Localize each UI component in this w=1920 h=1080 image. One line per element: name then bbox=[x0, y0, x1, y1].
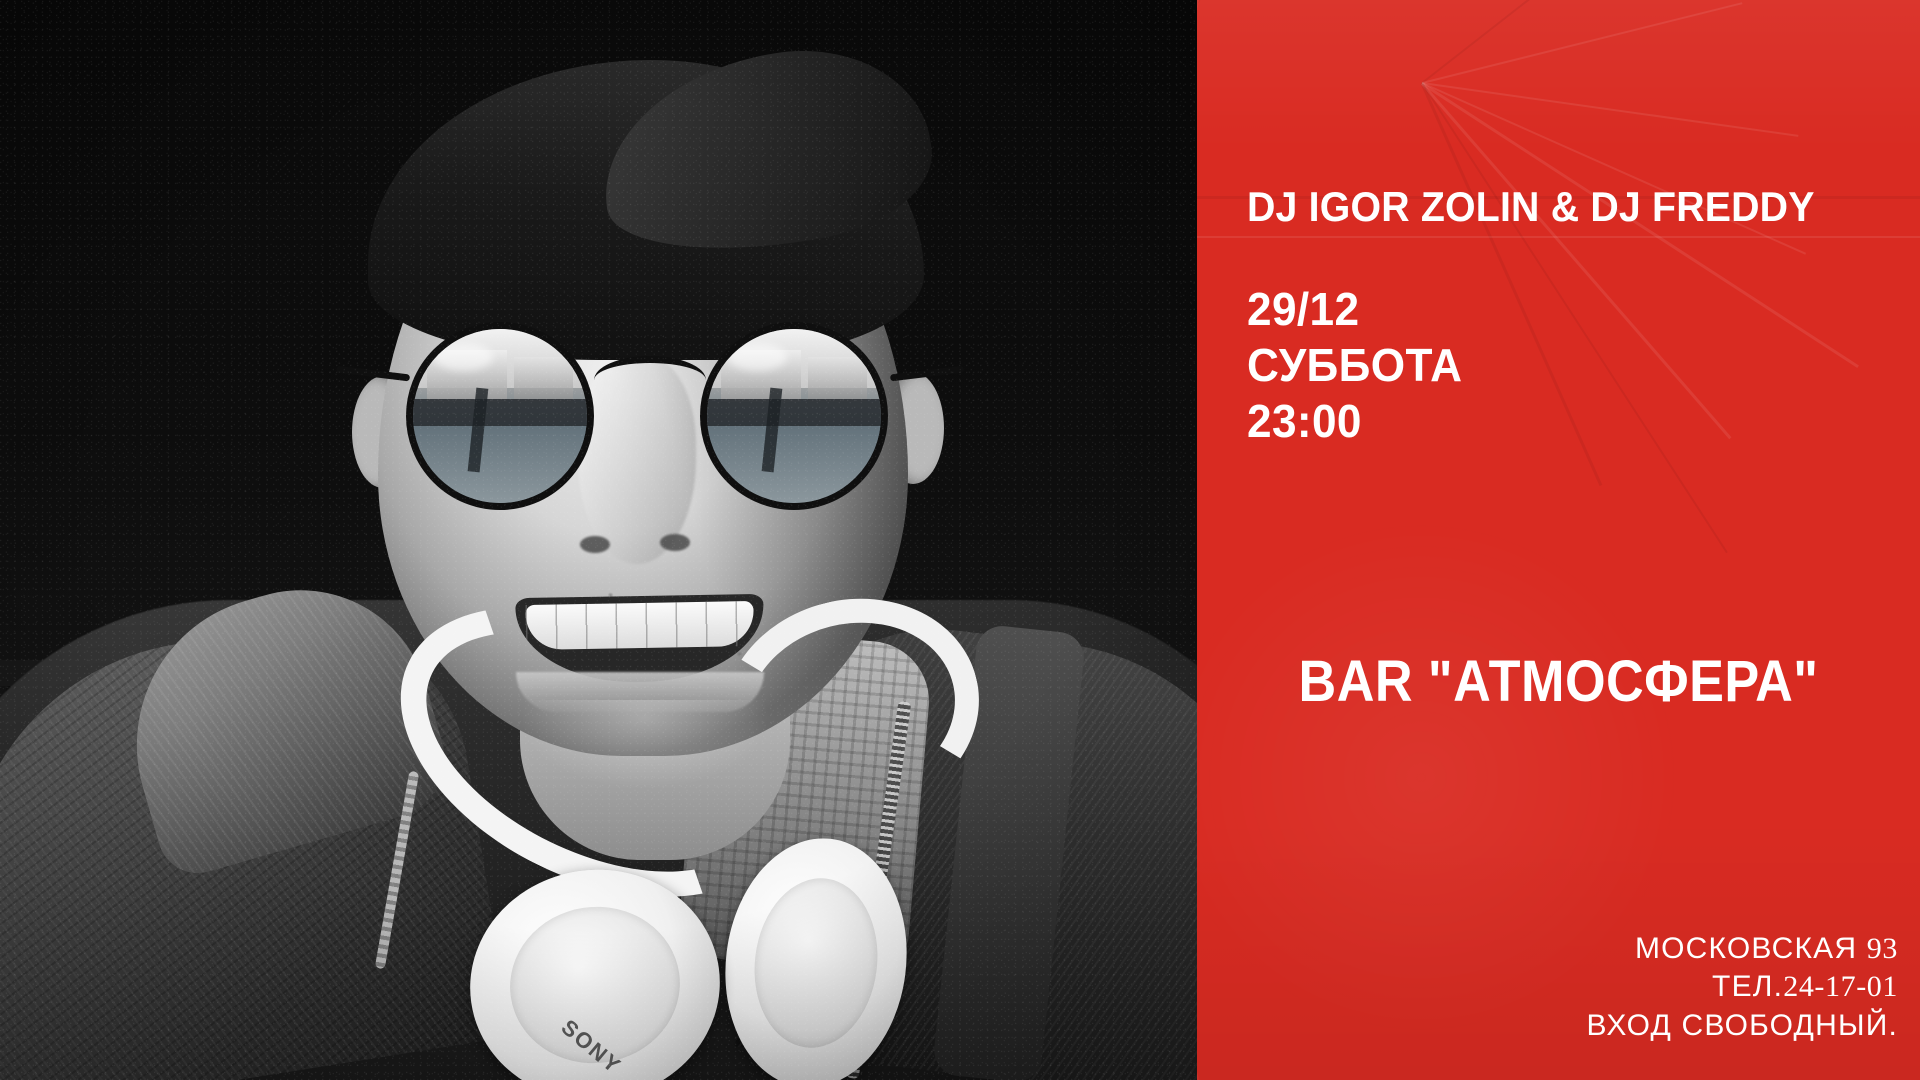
fabric-crease bbox=[1197, 236, 1920, 238]
event-time: 23:00 bbox=[1247, 393, 1462, 449]
address-street: МОСКОВСКАЯ bbox=[1635, 932, 1857, 965]
phone-label: ТЕЛ. bbox=[1712, 970, 1783, 1003]
fabric-crease bbox=[1421, 82, 1728, 553]
panel-sheen-top bbox=[1197, 0, 1920, 150]
nostril-left bbox=[580, 536, 610, 553]
contact-info-block: МОСКОВСКАЯ 93 ТЕЛ.24-17-01 ВХОД СВОБОДНЫ… bbox=[1586, 930, 1898, 1045]
sunglasses-lens-right bbox=[700, 322, 888, 510]
sunglasses-lens-left bbox=[406, 322, 594, 510]
round-sunglasses bbox=[400, 300, 900, 490]
entry-notice: ВХОД СВОБОДНЫЙ. bbox=[1586, 1007, 1898, 1045]
sunglasses-bridge bbox=[594, 356, 706, 385]
event-datetime-block: 29/12 СУББОТА 23:00 bbox=[1247, 281, 1462, 449]
event-date: 29/12 bbox=[1247, 281, 1462, 337]
venue-address: МОСКОВСКАЯ 93 bbox=[1586, 930, 1898, 968]
dj-portrait-photo: SONY bbox=[0, 0, 1197, 1080]
nostril-right bbox=[660, 534, 690, 551]
phone-number: 24-17-01 bbox=[1783, 970, 1898, 1003]
venue-name: BAR "АТМОСФЕРА" bbox=[1233, 648, 1884, 715]
venue-phone: ТЕЛ.24-17-01 bbox=[1586, 968, 1898, 1006]
event-weekday: СУББОТА bbox=[1247, 337, 1462, 393]
event-flyer-poster: SONY DJ IGOR ZOLIN & DJ FREDDY 29/12 СУБ… bbox=[0, 0, 1920, 1080]
headline-dj-lineup: DJ IGOR ZOLIN & DJ FREDDY bbox=[1247, 186, 1864, 228]
red-info-panel: DJ IGOR ZOLIN & DJ FREDDY 29/12 СУББОТА … bbox=[1197, 0, 1920, 1080]
address-number: 93 bbox=[1867, 932, 1898, 965]
